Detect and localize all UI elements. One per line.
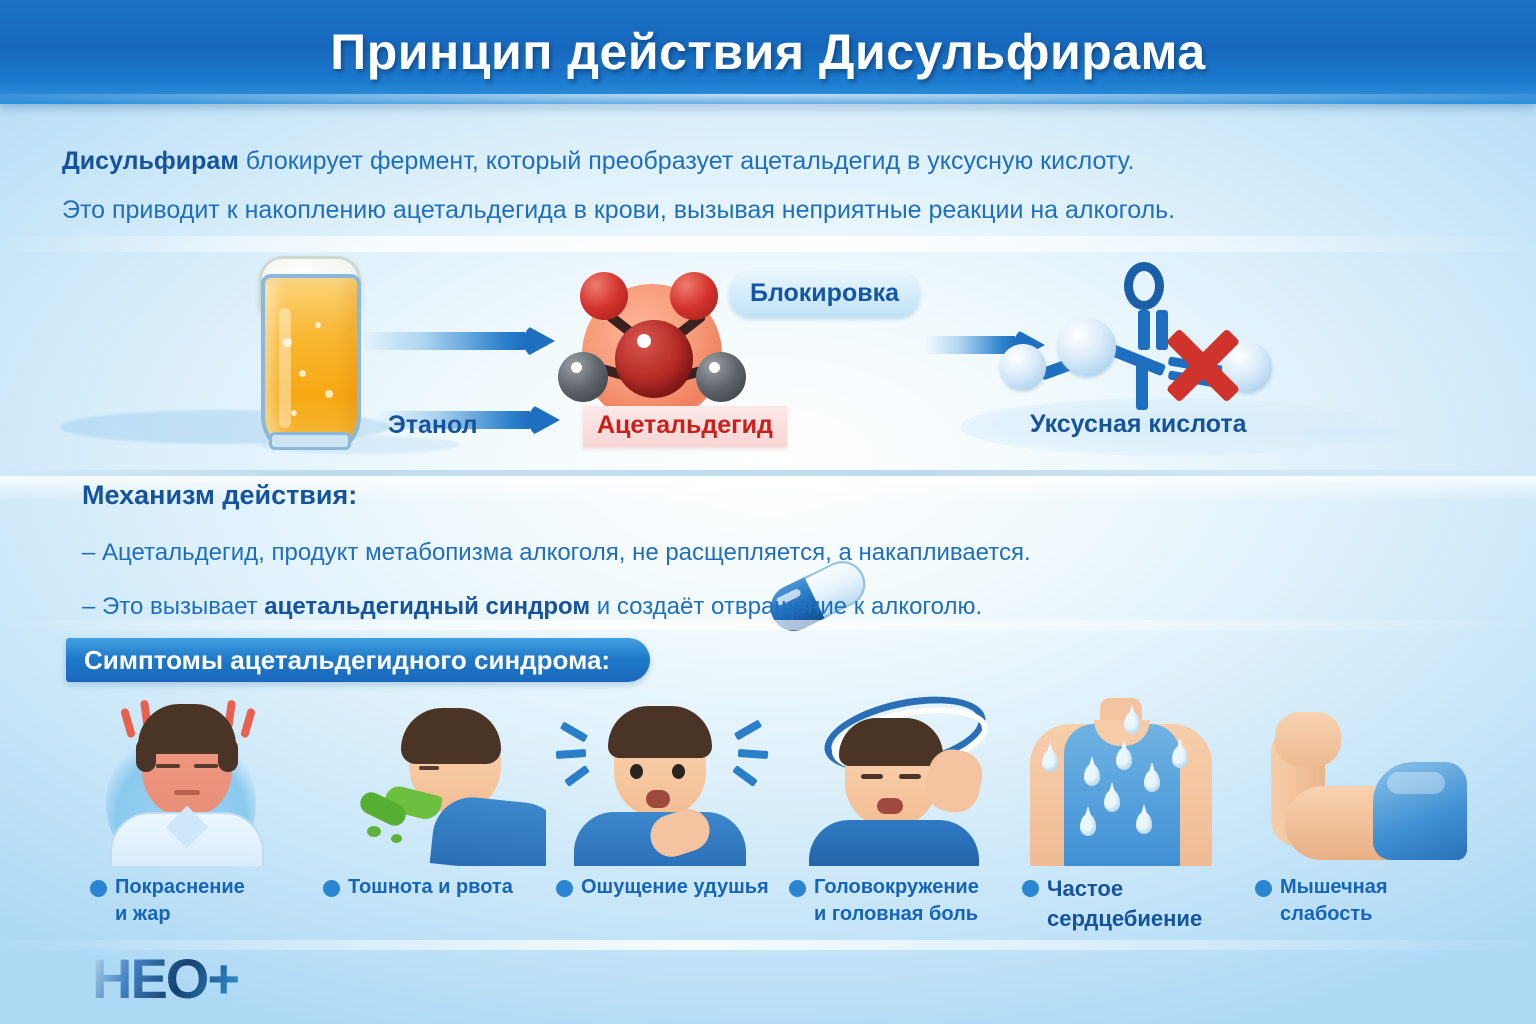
flexed-arm-icon (1245, 694, 1478, 866)
flushed-face-icon (80, 694, 313, 866)
acetic-acid-molecule-icon (1000, 266, 1280, 426)
carbon-atom (696, 352, 746, 402)
acetaldehyde-molecule-icon (560, 268, 750, 428)
dizzy-person-icon (779, 694, 1012, 866)
arrow-ethanol-to-acetaldehyde-top (360, 324, 555, 358)
atom-sphere (1000, 344, 1046, 390)
oxygen-atom (580, 272, 628, 320)
symptoms-banner: Симптомы ацетальдегидного синдрома: (66, 638, 650, 682)
ethanol-label: Этанол (388, 411, 478, 440)
mechanism-section: Механизм действия: – Ацетальдегид, проду… (82, 480, 1462, 647)
mechanism-bullet-2-bold: ацетальдегидный синдром (264, 593, 590, 620)
choking-person-icon (546, 694, 779, 866)
bullet-dot-icon (323, 880, 340, 897)
symptom-card[interactable]: Тошнота и рвота (313, 694, 546, 924)
mechanism-bullet-1: – Ацетальдегид, продукт метабопизма алко… (82, 539, 1462, 567)
water-puddle-shape (1300, 424, 1410, 444)
intro-text-block: Дисульфирам блокирует фермент, который п… (62, 146, 1442, 245)
bullet-dot-icon (789, 880, 806, 897)
mechanism-bullet-2-pre: – Это вызывает (82, 593, 264, 620)
symptom-caption: Тошнота и рвота (323, 874, 543, 901)
mechanism-heading: Механизм действия: (82, 480, 1462, 511)
carbon-atom (558, 352, 608, 402)
bullet-dot-icon (1022, 880, 1039, 897)
symptom-caption: Головокружение и головная боль (789, 874, 1009, 928)
oxygen-ring (1124, 262, 1164, 310)
block-badge: Блокировка (730, 272, 919, 317)
poster-header: Принцип действия Дисульфирама (0, 0, 1536, 104)
vomiting-person-icon (313, 694, 546, 866)
process-diagram: Блокировка Этанол Ацетальдеги (0, 248, 1536, 468)
intro-line-1: Дисульфирам блокирует фермент, который п… (62, 146, 1442, 177)
symptom-caption: Ошущение удушья (556, 874, 776, 901)
intro-line-1-rest: блокирует фермент, который преобразует а… (239, 147, 1135, 175)
symptom-card[interactable]: Головокружение и головная боль (779, 694, 1012, 924)
symptom-label: Головокружение и головная боль (814, 874, 979, 928)
infographic-poster: Принцип действия Дисульфирама Дисульфира… (0, 0, 1536, 1024)
beer-liquid (261, 274, 361, 450)
bullet-dot-icon (90, 880, 107, 897)
block-badge-label: Блокировка (750, 279, 899, 307)
symptom-card[interactable]: Покраснение и жар (80, 694, 313, 924)
brand-logo: НЕО+ (92, 950, 292, 1008)
bullet-dot-icon (556, 880, 573, 897)
intro-line-2: Это приводит к накоплению ацетальдегида … (62, 195, 1442, 226)
beer-glass-base (269, 432, 351, 450)
symptom-label: Мышечная слабость (1280, 874, 1388, 928)
symptom-caption: Частое сердцебиение (1022, 874, 1242, 933)
sweating-torso-icon (1012, 694, 1245, 866)
symptom-label: Покраснение и жар (115, 874, 245, 928)
symptom-card[interactable]: Ошущение удушья (546, 694, 779, 924)
symptom-card[interactable]: Частое сердцебиение (1012, 694, 1245, 924)
symptom-caption: Покраснение и жар (90, 874, 310, 928)
beer-glass-icon (253, 256, 363, 446)
symptom-label: Частое сердцебиение (1047, 874, 1202, 933)
symptom-label: Тошнота и рвота (348, 874, 513, 901)
symptom-card-list: Покраснение и жар Тошнота и рвота (80, 694, 1480, 924)
bullet-dot-icon (1255, 880, 1272, 897)
mechanism-bullet-2: – Это вызывает ацетальдегидный синдром и… (82, 593, 1462, 621)
acetic-acid-label: Уксусная кислота (1030, 410, 1247, 439)
symptom-label: Ошущение удушья (581, 874, 769, 901)
mechanism-bullet-2-post: и создаёт отвращение к алкоголю. (590, 593, 982, 620)
page-title: Принцип действия Дисульфирама (0, 0, 1536, 104)
atom-sphere (1058, 318, 1116, 376)
symptoms-banner-label: Симптомы ацетальдегидного синдрома: (84, 645, 610, 676)
blocked-x-icon (1160, 322, 1246, 408)
oxygen-atom (670, 272, 718, 320)
symptom-card[interactable]: Мышечная слабость (1245, 694, 1478, 924)
acetaldehyde-label: Ацетальдегид (583, 406, 787, 447)
intro-drug-name: Дисульфирам (62, 147, 239, 175)
symptom-caption: Мышечная слабость (1255, 874, 1475, 928)
central-atom (615, 320, 693, 398)
section-divider-line (0, 470, 1536, 476)
